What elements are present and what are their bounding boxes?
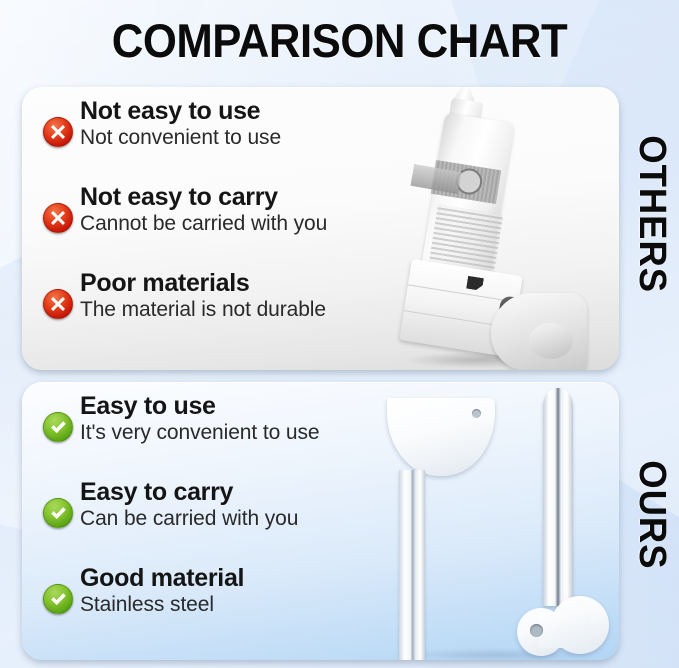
product-image-others	[369, 87, 619, 370]
hand-illustration	[491, 293, 587, 370]
tube-cap	[451, 87, 479, 113]
cross-icon	[43, 203, 73, 233]
feature-title: Easy to use	[80, 392, 392, 420]
check-icon	[43, 584, 73, 614]
tube-brand-text	[410, 164, 461, 194]
check-icon	[43, 412, 73, 442]
squeezer-logo-icon	[466, 276, 484, 291]
feature-list-others: Not easy to use Not convenient to use No…	[32, 87, 392, 355]
toothpaste-tube-illustration	[387, 95, 567, 370]
feature-subtitle: It's very convenient to use	[80, 420, 392, 446]
feature-subtitle: Not convenient to use	[80, 125, 392, 151]
cross-icon	[43, 289, 73, 319]
hand-knuckle	[529, 323, 573, 359]
feature-row: Not easy to carry Cannot be carried with…	[32, 183, 392, 269]
side-label-others: OTHERS	[630, 135, 673, 293]
comparison-card-ours: Easy to use It's very convenient to use …	[22, 382, 619, 660]
feature-title: Poor materials	[80, 269, 392, 297]
feature-title: Easy to carry	[80, 478, 392, 506]
tube-stripe	[429, 204, 504, 274]
tube-body	[417, 113, 514, 302]
tool-head-lobe-big	[551, 596, 609, 654]
feature-list-ours: Easy to use It's very convenient to use …	[32, 382, 392, 650]
tube-label	[431, 160, 502, 204]
tool-shaft	[543, 388, 573, 606]
feature-row: Not easy to use Not convenient to use	[32, 97, 392, 183]
product-image-ours	[369, 382, 619, 660]
side-label-ours: OURS	[630, 460, 673, 569]
stainless-steel-tools-illustration	[369, 382, 619, 660]
feature-row: Good material Stainless steel	[32, 564, 392, 650]
feature-row: Easy to carry Can be carried with you	[32, 478, 392, 564]
tube-label-seal	[454, 167, 484, 197]
feature-title: Not easy to carry	[80, 183, 392, 211]
tool-head-bridge	[539, 612, 591, 648]
tool-fan-head	[387, 398, 495, 476]
page-title: COMPARISON CHART	[24, 13, 655, 69]
feature-subtitle: Can be carried with you	[80, 506, 392, 532]
cross-icon	[43, 117, 73, 147]
squeezer-seam	[408, 284, 519, 303]
tool-shaft	[399, 470, 425, 660]
comparison-card-others: Not easy to use Not convenient to use No…	[22, 87, 619, 370]
tool-peanut-head	[517, 588, 609, 658]
check-icon	[43, 498, 73, 528]
feature-row: Easy to use It's very convenient to use	[32, 392, 392, 478]
tube-shadow	[403, 352, 553, 368]
tube-neck	[447, 98, 484, 137]
squeezer-tool-fan-head	[387, 398, 495, 660]
tools-shadow	[399, 648, 589, 660]
feature-subtitle: Cannot be carried with you	[80, 211, 392, 237]
feature-row: Poor materials The material is not durab…	[32, 269, 392, 355]
feature-subtitle: The material is not durable	[80, 297, 392, 323]
tool-hanging-hole	[530, 624, 543, 637]
tool-head-lobe-small	[517, 608, 565, 656]
squeezer-grip	[493, 295, 525, 354]
feature-title: Good material	[80, 564, 392, 592]
squeezer-tool-peanut-head	[517, 388, 609, 660]
plastic-squeezer	[399, 259, 522, 358]
feature-title: Not easy to use	[80, 97, 392, 125]
feature-subtitle: Stainless steel	[80, 592, 392, 618]
squeezer-seam	[404, 310, 515, 329]
tool-hanging-hole	[472, 409, 481, 418]
